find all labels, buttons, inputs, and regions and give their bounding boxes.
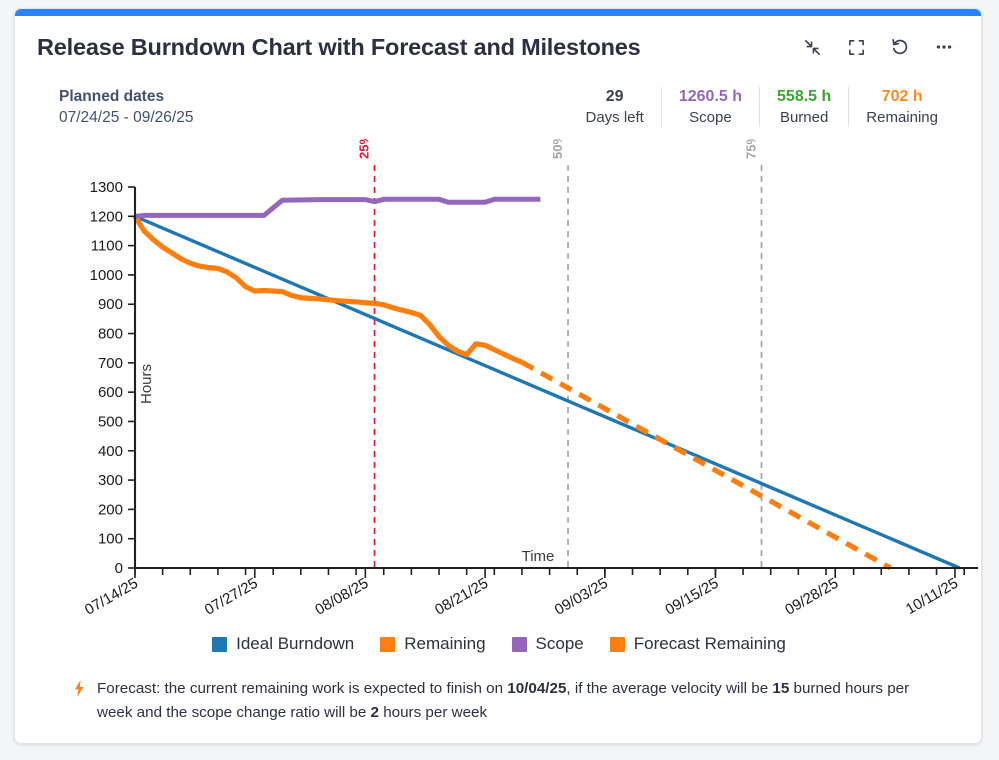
refresh-icon[interactable]	[889, 36, 911, 58]
fullscreen-icon[interactable]	[845, 36, 867, 58]
stat-scope: 1260.5 h Scope	[661, 87, 759, 127]
y-tick-label: 1100	[91, 238, 123, 255]
lightning-bolt-icon	[73, 680, 86, 702]
x-tick-label: 10/11/25	[903, 575, 961, 618]
x-tick-label: 08/21/25	[432, 575, 491, 619]
x-tick-label: 09/03/25	[552, 575, 611, 619]
stat-days-left-value: 29	[586, 87, 644, 108]
forecast-note-text: Forecast: the current remaining work is …	[97, 677, 937, 724]
legend-swatch-icon	[512, 637, 527, 652]
y-tick-label: 900	[98, 296, 123, 313]
legend-swatch-icon	[212, 637, 227, 652]
chart-axes	[135, 187, 978, 568]
legend-swatch-icon	[380, 637, 395, 652]
milestone-50pct: 50%	[550, 139, 568, 568]
burndown-chart-card: Release Burndown Chart with Forecast and…	[14, 8, 982, 744]
y-tick-label: 1300	[90, 179, 123, 196]
forecast-note: Forecast: the current remaining work is …	[15, 677, 982, 724]
stat-burned: 558.5 h Burned	[759, 87, 848, 127]
card-accent-bar	[15, 9, 981, 16]
y-tick-label: 800	[98, 326, 123, 343]
x-tick-label: 09/28/25	[782, 575, 841, 619]
milestone-label: 50%	[550, 139, 565, 159]
y-tick-label: 600	[98, 384, 123, 401]
page-title: Release Burndown Chart with Forecast and…	[37, 34, 641, 61]
series-forecast-remaining	[522, 362, 891, 568]
y-tick-label: 1000	[90, 267, 123, 284]
more-options-icon[interactable]	[933, 36, 955, 58]
screenshot-root: Release Burndown Chart with Forecast and…	[0, 0, 999, 760]
stat-scope-label: Scope	[679, 108, 742, 128]
burndown-plot: 25%50%75%0100200300400500600700800900100…	[15, 139, 982, 659]
stat-scope-value: 1260.5 h	[679, 87, 742, 108]
x-tick-label: 08/08/25	[312, 575, 371, 619]
collapse-icon[interactable]	[801, 36, 823, 58]
series-ideal-burndown	[135, 216, 960, 568]
stat-remaining-label: Remaining	[866, 108, 938, 128]
legend-label: Ideal Burndown	[236, 634, 354, 654]
stat-burned-label: Burned	[777, 108, 831, 128]
x-tick-label: 07/14/25	[82, 575, 141, 619]
stat-days-left-label: Days left	[586, 108, 644, 128]
card-header: Release Burndown Chart with Forecast and…	[15, 16, 981, 78]
legend-label: Scope	[536, 634, 584, 654]
series-scope	[135, 199, 540, 216]
milestone-label: 25%	[357, 139, 372, 159]
y-tick-label: 700	[98, 355, 123, 372]
stat-remaining: 702 h Remaining	[848, 87, 955, 127]
planned-dates: Planned dates 07/24/25 - 09/26/25	[59, 87, 193, 129]
x-tick-label: 07/27/25	[202, 575, 261, 619]
milestone-label: 75%	[743, 139, 758, 159]
y-tick-label: 100	[98, 531, 123, 548]
y-tick-label: 500	[98, 413, 123, 430]
planned-dates-value: 07/24/25 - 09/26/25	[59, 108, 193, 129]
legend-item-remaining[interactable]: Remaining	[380, 634, 485, 654]
stat-days-left: 29 Days left	[569, 87, 661, 127]
y-tick-label: 400	[98, 443, 123, 460]
planned-dates-label: Planned dates	[59, 87, 193, 108]
burndown-svg: 25%50%75%0100200300400500600700800900100…	[15, 139, 982, 659]
y-tick-label: 1200	[90, 208, 123, 225]
legend-swatch-icon	[610, 637, 625, 652]
y-tick-label: 0	[115, 560, 123, 577]
legend-label: Remaining	[404, 634, 485, 654]
legend-label: Forecast Remaining	[634, 634, 786, 654]
stat-burned-value: 558.5 h	[777, 87, 831, 108]
legend-item-forecast-remaining[interactable]: Forecast Remaining	[610, 634, 786, 654]
header-actions	[801, 36, 959, 58]
y-tick-label: 300	[98, 472, 123, 489]
stat-remaining-value: 702 h	[866, 87, 938, 108]
y-tick-label: 200	[98, 501, 123, 518]
milestone-75pct: 75%	[743, 139, 761, 568]
stats-group: 29 Days left 1260.5 h Scope 558.5 h Burn…	[569, 87, 956, 127]
legend-item-scope[interactable]: Scope	[512, 634, 584, 654]
x-axis-title: Time	[522, 548, 555, 565]
x-tick-label: 09/15/25	[662, 575, 721, 619]
summary-row: Planned dates 07/24/25 - 09/26/25 29 Day…	[15, 87, 981, 141]
series-remaining	[135, 216, 522, 362]
legend-item-ideal-burndown[interactable]: Ideal Burndown	[212, 634, 354, 654]
y-axis-title: Hours	[138, 364, 155, 404]
chart-legend: Ideal BurndownRemainingScopeForecast Rem…	[15, 634, 982, 654]
